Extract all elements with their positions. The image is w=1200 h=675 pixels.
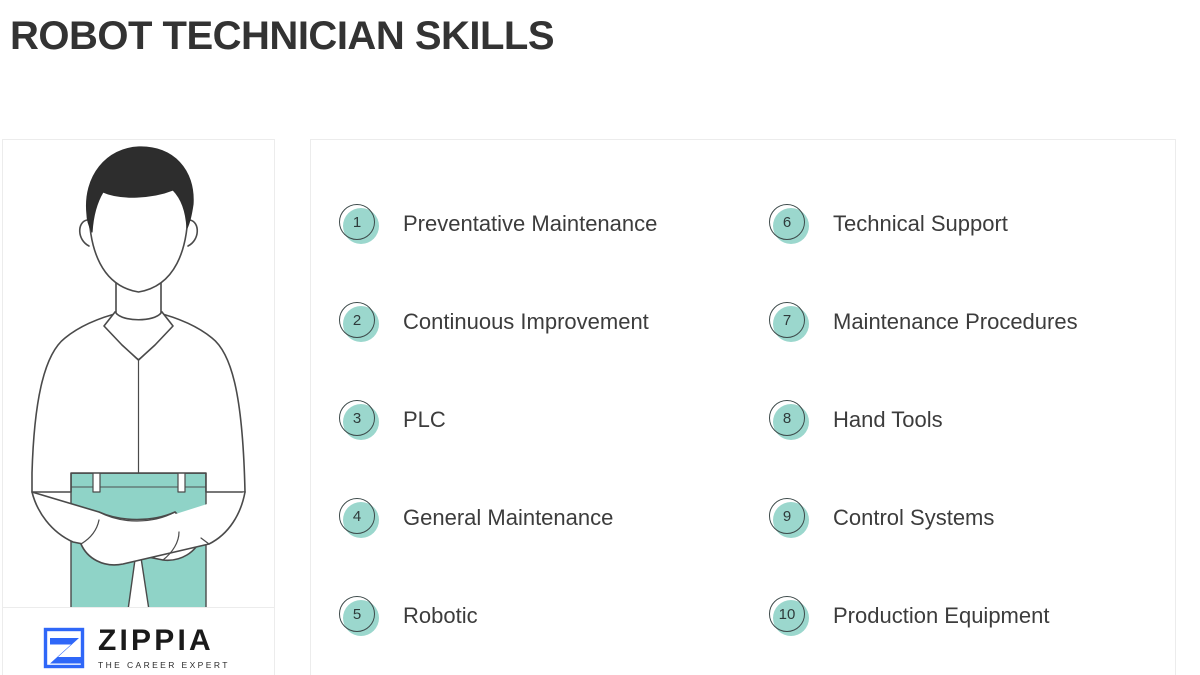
skill-item[interactable]: 1 Preventative Maintenance <box>337 175 767 273</box>
skill-number-badge: 1 <box>337 202 381 246</box>
skill-label: Continuous Improvement <box>403 309 649 335</box>
skill-number-badge: 10 <box>767 594 811 638</box>
skill-number-badge: 3 <box>337 398 381 442</box>
skill-label: PLC <box>403 407 446 433</box>
zippia-logo: ZIPPIA THE CAREER EXPERT <box>41 625 230 671</box>
skill-number: 6 <box>769 204 805 240</box>
skills-grid: 1 Preventative Maintenance 6 Technical S… <box>311 140 1175 675</box>
skill-label: Preventative Maintenance <box>403 211 657 237</box>
skill-number-badge: 4 <box>337 496 381 540</box>
page-title: ROBOT TECHNICIAN SKILLS <box>10 14 554 58</box>
skill-number-badge: 6 <box>767 202 811 246</box>
skill-number: 5 <box>339 596 375 632</box>
skill-number: 3 <box>339 400 375 436</box>
skill-label: Production Equipment <box>833 603 1049 629</box>
skill-number-badge: 5 <box>337 594 381 638</box>
skill-item[interactable]: 8 Hand Tools <box>767 371 1175 469</box>
zippia-tagline: THE CAREER EXPERT <box>98 661 230 670</box>
illustration-panel: ZIPPIA THE CAREER EXPERT <box>2 139 275 675</box>
skill-number: 10 <box>769 596 805 632</box>
skill-label: Maintenance Procedures <box>833 309 1078 335</box>
skill-number-badge: 7 <box>767 300 811 344</box>
skill-number: 4 <box>339 498 375 534</box>
zippia-logo-icon <box>41 625 87 671</box>
skill-number-badge: 2 <box>337 300 381 344</box>
skill-number: 1 <box>339 204 375 240</box>
zippia-wordmark: ZIPPIA THE CAREER EXPERT <box>98 626 230 670</box>
skills-panel: 1 Preventative Maintenance 6 Technical S… <box>310 139 1176 675</box>
skill-label: Hand Tools <box>833 407 943 433</box>
person-illustration <box>3 140 274 607</box>
zippia-name: ZIPPIA <box>98 626 230 656</box>
skill-number: 8 <box>769 400 805 436</box>
skill-item[interactable]: 4 General Maintenance <box>337 469 767 567</box>
skill-number: 7 <box>769 302 805 338</box>
skill-label: Control Systems <box>833 505 994 531</box>
skill-number: 9 <box>769 498 805 534</box>
skill-item[interactable]: 6 Technical Support <box>767 175 1175 273</box>
skill-item[interactable]: 7 Maintenance Procedures <box>767 273 1175 371</box>
skill-label: General Maintenance <box>403 505 613 531</box>
skill-item[interactable]: 3 PLC <box>337 371 767 469</box>
skill-item[interactable]: 5 Robotic <box>337 567 767 665</box>
skill-number-badge: 9 <box>767 496 811 540</box>
illustration-divider <box>3 607 274 608</box>
skill-label: Technical Support <box>833 211 1008 237</box>
skill-item[interactable]: 2 Continuous Improvement <box>337 273 767 371</box>
skill-item[interactable]: 9 Control Systems <box>767 469 1175 567</box>
skill-label: Robotic <box>403 603 478 629</box>
skill-number: 2 <box>339 302 375 338</box>
skill-number-badge: 8 <box>767 398 811 442</box>
skill-item[interactable]: 10 Production Equipment <box>767 567 1175 665</box>
